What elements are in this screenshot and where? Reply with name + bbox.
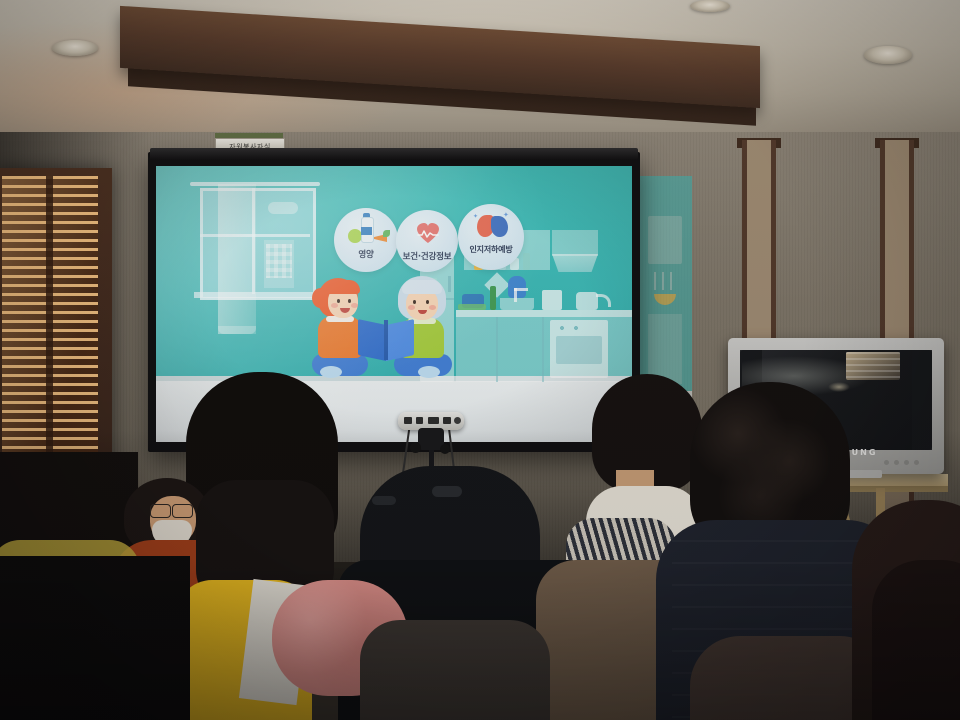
- downlight-icon: [690, 0, 730, 12]
- glasses-icon: [150, 504, 171, 518]
- utensil-icon: [654, 272, 656, 290]
- chair-handle-slot: [432, 486, 462, 497]
- chair-handle-slot: [372, 496, 396, 505]
- screen-roller-case: [150, 148, 638, 160]
- av-knob[interactable]: [454, 417, 461, 424]
- utensil-icon: [670, 272, 672, 290]
- av-port[interactable]: [443, 417, 451, 424]
- tv-control-button[interactable]: [884, 460, 889, 465]
- tv-blind-reflection: [846, 352, 900, 380]
- tv-light-reflection: [828, 382, 850, 392]
- tv-control-button[interactable]: [894, 460, 899, 465]
- attendee-right-hair-lower: [872, 560, 960, 720]
- photo-scene: 자원봉사자실: [0, 0, 960, 720]
- av-port[interactable]: [404, 417, 412, 424]
- tripod-knob[interactable]: [440, 444, 450, 454]
- av-port[interactable]: [416, 417, 423, 424]
- downlight-icon: [52, 40, 98, 56]
- tv-control-button[interactable]: [914, 460, 919, 465]
- attendee-dark-coat: [360, 620, 550, 720]
- glasses-icon: [172, 504, 193, 518]
- tv-bezel-right: [912, 350, 932, 450]
- av-port[interactable]: [428, 417, 439, 424]
- tripod-knob[interactable]: [410, 442, 421, 453]
- spill-cabinet: [648, 216, 682, 264]
- downlight-icon: [864, 46, 912, 64]
- attendee-left-coat: [0, 556, 190, 720]
- utensil-icon: [662, 272, 664, 290]
- tv-control-button[interactable]: [904, 460, 909, 465]
